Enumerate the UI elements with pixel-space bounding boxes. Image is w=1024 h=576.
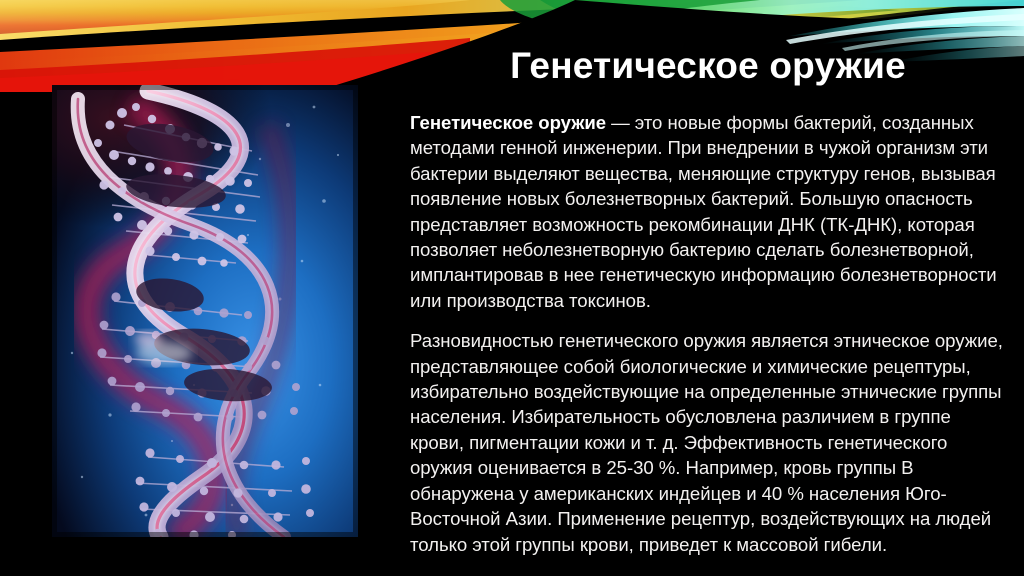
presentation-slide: Генетическое оружие Генетическое оружие … bbox=[0, 0, 1024, 576]
paragraph-2: Разновидностью генетического оружия явля… bbox=[410, 328, 1006, 557]
slide-content: Генетическое оружие Генетическое оружие … bbox=[410, 44, 1006, 557]
page-title: Генетическое оружие bbox=[410, 44, 1006, 88]
paragraph-1-lead: Генетическое оружие bbox=[410, 112, 606, 133]
dna-image bbox=[52, 85, 358, 537]
dna-double-helix-graphic bbox=[52, 85, 358, 537]
paragraph-1-rest: — это новые формы бактерий, созданных ме… bbox=[410, 112, 997, 311]
paragraph-1: Генетическое оружие — это новые формы ба… bbox=[410, 110, 1006, 313]
paragraph-2-rest: Разновидностью генетического оружия явля… bbox=[410, 330, 1003, 554]
